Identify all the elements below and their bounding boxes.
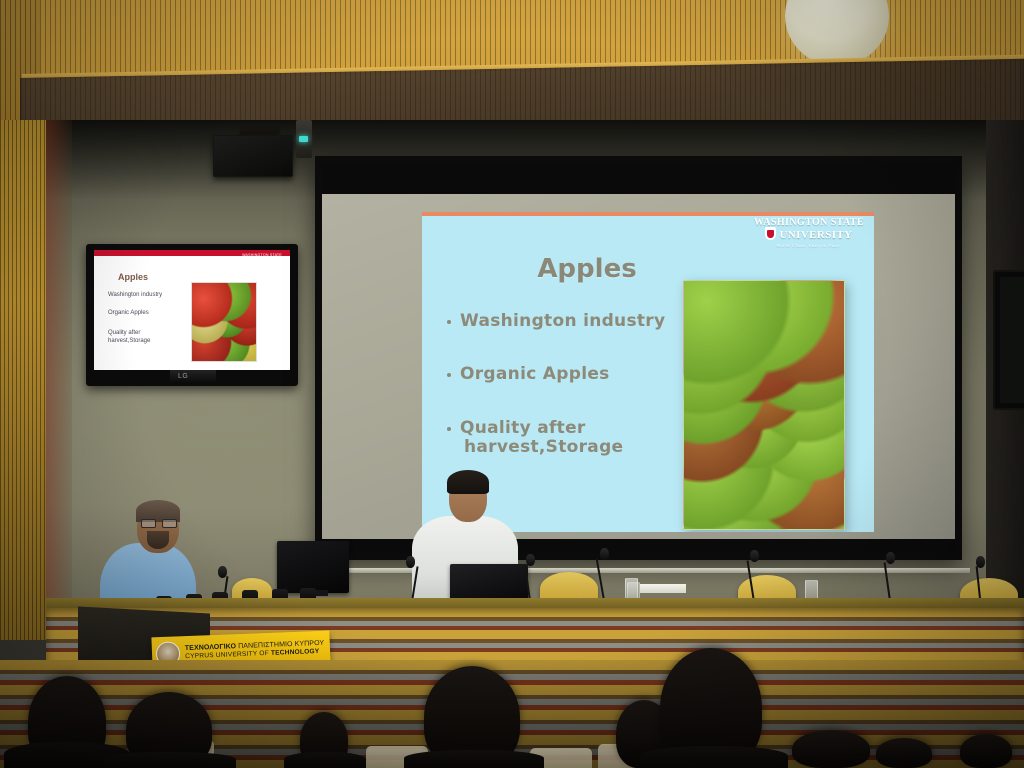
mini-bullet-1: Washington industry xyxy=(108,292,162,300)
mini-bullet-4: harvest,Storage xyxy=(108,338,150,346)
wsu-shield-icon xyxy=(765,227,776,240)
monitor-stand xyxy=(170,370,216,382)
podium-banner-text: ΤΕΧΝΟΛΟΓΙΚΟ ΠΑΝΕΠΙΣΤΗΜΙΟ ΚΥΠΡΟΥ CYPRUS U… xyxy=(185,640,325,662)
wall-speaker xyxy=(213,135,293,177)
monitor-brand-label: LG xyxy=(178,373,188,380)
secondary-monitor[interactable] xyxy=(993,270,1024,410)
wsu-logo-line2-text: UNIVERSITY xyxy=(779,229,852,241)
mini-bullet-3: Quality after xyxy=(108,330,140,338)
lecture-hall-photo: WASHINGTON STATE UNIVERSITY World Class.… xyxy=(0,0,1024,768)
slide-bullet-2: Organic Apples xyxy=(444,365,694,384)
slide-bullet-1: Washington industry xyxy=(444,312,694,331)
slide-bullet-3: Quality after harvest,Storage xyxy=(444,419,694,458)
desk-monitor[interactable] xyxy=(277,541,349,593)
wsu-logo-tagline: World Class. Face to Face. xyxy=(750,243,868,248)
mini-apples-photo xyxy=(191,282,257,362)
paper-sheet xyxy=(640,584,686,593)
mini-slide-title: Apples xyxy=(118,272,148,282)
slide-apples-photo xyxy=(683,280,845,530)
audience-head-7 xyxy=(792,730,870,768)
audience-head-9 xyxy=(960,734,1012,768)
presenter-laptop[interactable] xyxy=(450,564,528,600)
left-wood-panel xyxy=(0,120,46,640)
av-status-led xyxy=(299,136,308,142)
slide-bullet-3-line1: Quality after xyxy=(460,418,586,438)
wsu-logo-line2: UNIVERSITY xyxy=(750,227,868,241)
slide-bullet-list: Washington industry Organic Apples Quali… xyxy=(444,312,694,492)
audience-head-8 xyxy=(876,738,932,768)
audience-shoulder-6 xyxy=(640,746,788,768)
mini-slide: WASHINGTON STATE UNIVERSITY World Class.… xyxy=(94,250,290,370)
audience-shoulder-3 xyxy=(284,752,366,768)
projected-slide: WASHINGTON STATE UNIVERSITY World Class.… xyxy=(422,212,874,532)
secondary-monitor-screen xyxy=(1000,277,1024,403)
projection-screen-surface: WASHINGTON STATE UNIVERSITY World Class.… xyxy=(322,194,955,539)
left-column-reflection xyxy=(46,120,72,640)
podium-banner-english-bold: TECHNOLOGY xyxy=(271,648,320,657)
audience-shoulder-2 xyxy=(104,752,236,768)
podium-banner-greek-bold: ΤΕΧΝΟΛΟΓΙΚΟ xyxy=(185,643,239,652)
mini-bullet-2: Organic Apples xyxy=(108,310,149,318)
monitor-bezel: WASHINGTON STATE UNIVERSITY World Class.… xyxy=(94,250,290,370)
slide-bullet-3-line2: harvest,Storage xyxy=(464,437,623,457)
presenter-left-beard xyxy=(147,531,169,549)
mini-wsu-logo: WASHINGTON STATE UNIVERSITY World Class.… xyxy=(238,253,286,275)
audience-shoulder-4 xyxy=(404,750,544,768)
monitor-screen: WASHINGTON STATE UNIVERSITY World Class.… xyxy=(94,250,290,370)
wsu-logo: WASHINGTON STATE UNIVERSITY World Class.… xyxy=(750,217,868,248)
projection-screen-frame: WASHINGTON STATE UNIVERSITY World Class.… xyxy=(315,156,962,560)
presenter-center-hair xyxy=(447,470,489,494)
presenter-left-glasses-icon xyxy=(141,519,175,526)
preview-monitor[interactable]: WASHINGTON STATE UNIVERSITY World Class.… xyxy=(86,244,298,386)
mini-logo-tagline: World Class. Face to Face. xyxy=(238,264,286,268)
